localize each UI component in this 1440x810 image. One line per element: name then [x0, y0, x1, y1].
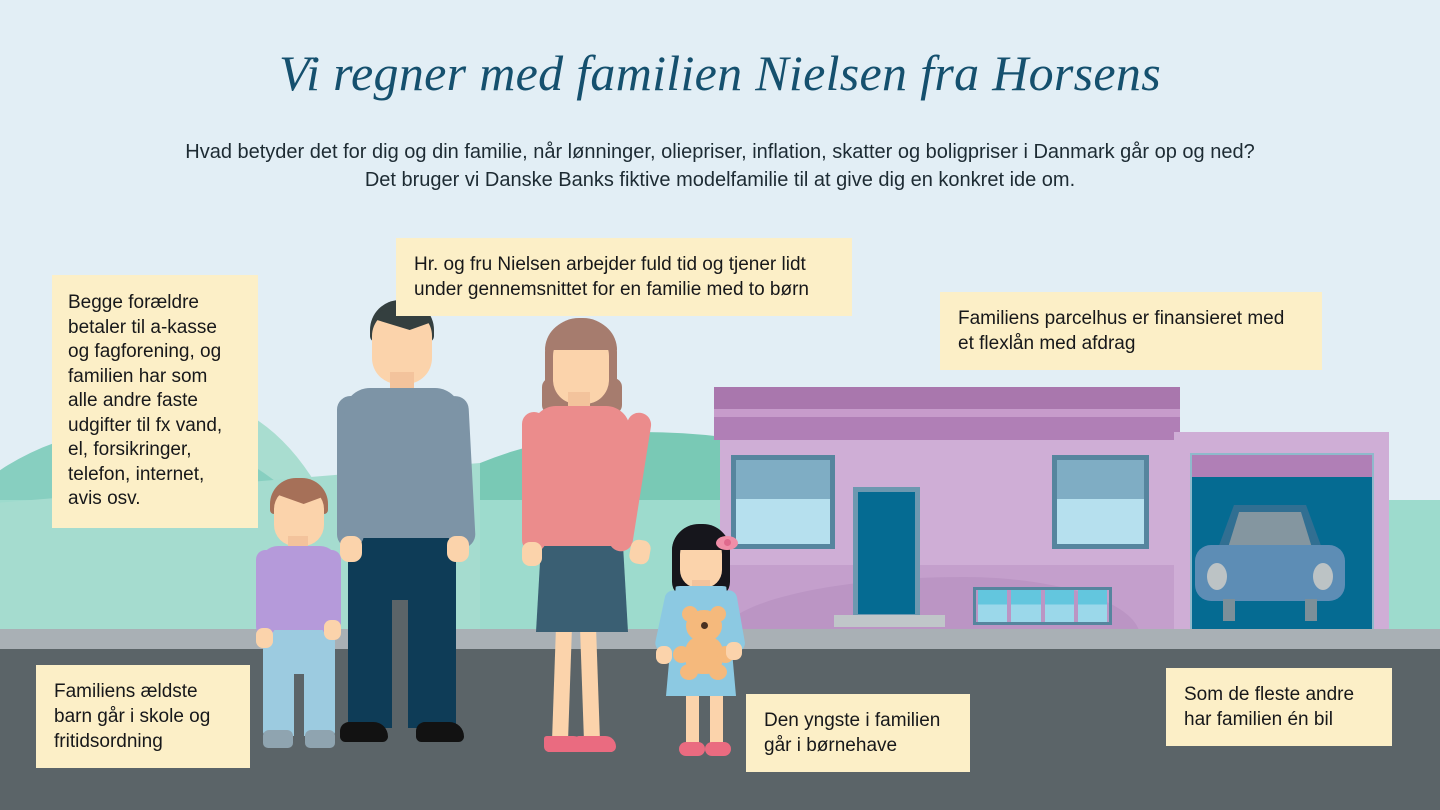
- mother-shoe-right: [576, 736, 616, 752]
- girl-shoe-left: [679, 742, 705, 756]
- callout-house-financing: Familiens parcelhus er finansieret med e…: [940, 292, 1322, 370]
- boy-hand-right: [324, 620, 341, 640]
- family-car: [1195, 505, 1345, 625]
- mother-top: [532, 406, 630, 546]
- basement-pane: [1078, 590, 1107, 622]
- basement-pane: [1045, 590, 1074, 622]
- window-pane-top: [1057, 460, 1144, 499]
- basement-pane: [1011, 590, 1040, 622]
- girl-hair-bow: [716, 536, 738, 550]
- callout-youngest-child-kindergarten: Den yngste i familien går i børnehave: [746, 694, 970, 772]
- older-child-boy-figure: [256, 478, 366, 762]
- callout-oldest-child-school: Familiens ældste barn går i skole og fri…: [36, 665, 250, 768]
- basement-pane: [978, 590, 1007, 622]
- car-headlight-right: [1313, 563, 1333, 590]
- father-hand-right: [447, 536, 469, 562]
- mother-leg-right: [580, 628, 600, 740]
- house-window-right: [1052, 455, 1149, 549]
- boy-leg-gap: [294, 674, 304, 736]
- girl-hand-right: [726, 642, 742, 660]
- car-wheel-left: [1223, 599, 1235, 621]
- window-pane-top: [736, 460, 830, 499]
- page-subtitle-line-1: Hvad betyder det for dig og din familie,…: [160, 138, 1280, 166]
- teddy-foot-right: [709, 664, 727, 680]
- younger-child-girl-figure: [660, 524, 760, 764]
- house-door-step: [834, 615, 945, 627]
- mother-hair-fringe: [545, 320, 617, 350]
- window-pane-bottom: [1057, 499, 1144, 544]
- callout-parents-work: Hr. og fru Nielsen arbejder fuld tid og …: [396, 238, 852, 316]
- page-title: Vi regner med familien Nielsen fra Horse…: [0, 44, 1440, 102]
- father-leg-gap: [392, 600, 408, 728]
- callout-family-car: Som de fleste andre har familien én bil: [1166, 668, 1392, 746]
- boy-hand-left: [256, 628, 273, 648]
- girl-hand-left: [656, 646, 672, 664]
- teddy-foot-left: [680, 664, 698, 680]
- girl-leg-right: [710, 690, 723, 746]
- boy-shirt: [260, 546, 338, 630]
- house-front-door: [853, 487, 920, 619]
- mother-hand-left: [522, 542, 542, 566]
- car-headlight-left: [1207, 563, 1227, 590]
- house-basement-window: [973, 587, 1112, 625]
- girl-shoe-right: [705, 742, 731, 756]
- mother-hand-right: [628, 538, 652, 565]
- father-shoe-right: [416, 722, 464, 742]
- boy-shoe-right: [305, 730, 335, 748]
- page-subtitle: Hvad betyder det for dig og din familie,…: [160, 138, 1280, 194]
- mother-leg-left: [552, 628, 572, 740]
- house-roof-lower: [714, 417, 1180, 440]
- teddy-paw-left: [673, 646, 690, 663]
- infographic-canvas: Vi regner med familien Nielsen fra Horse…: [0, 0, 1440, 810]
- callout-parents-expenses: Begge forældre betaler til a-kasse og fa…: [52, 275, 258, 528]
- family-house: [714, 387, 1180, 632]
- house-roof-stripe: [714, 409, 1180, 417]
- car-wheel-right: [1305, 599, 1317, 621]
- boy-shoe-left: [263, 730, 293, 748]
- mother-skirt: [536, 536, 628, 632]
- teddy-bear: [672, 606, 734, 682]
- house-roof-upper: [714, 387, 1180, 409]
- mother-figure: [520, 318, 680, 763]
- page-subtitle-line-2: Det bruger vi Danske Banks fiktive model…: [160, 166, 1280, 194]
- girl-leg-left: [686, 690, 699, 746]
- teddy-eye: [701, 622, 708, 629]
